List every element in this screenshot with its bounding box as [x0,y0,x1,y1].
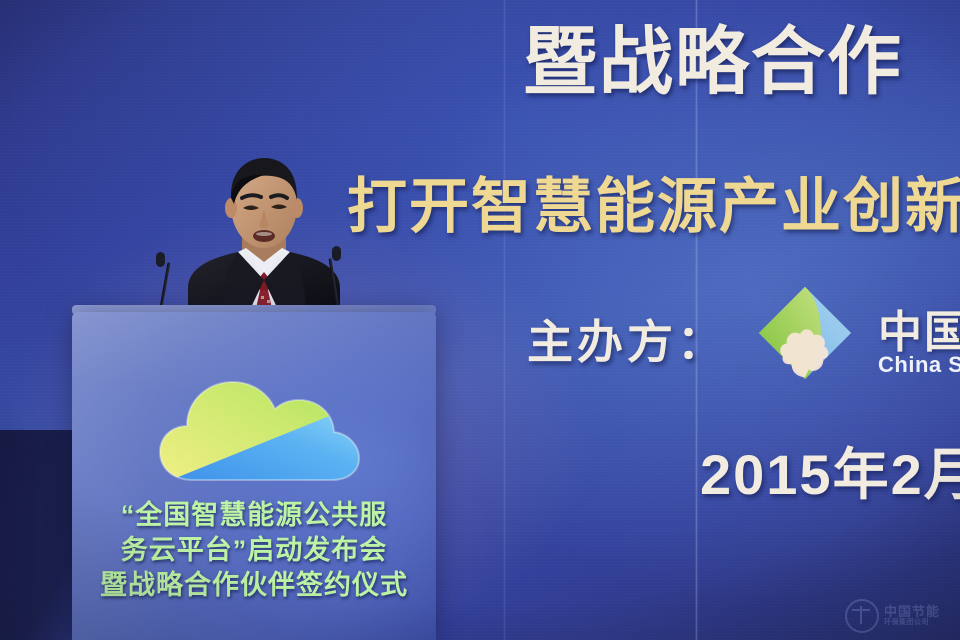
photo-vignette [0,0,960,640]
photo-stage: 暨战略合作 打开智慧能源产业创新 主办方： 中国 China S 2015年2月 [0,0,960,640]
